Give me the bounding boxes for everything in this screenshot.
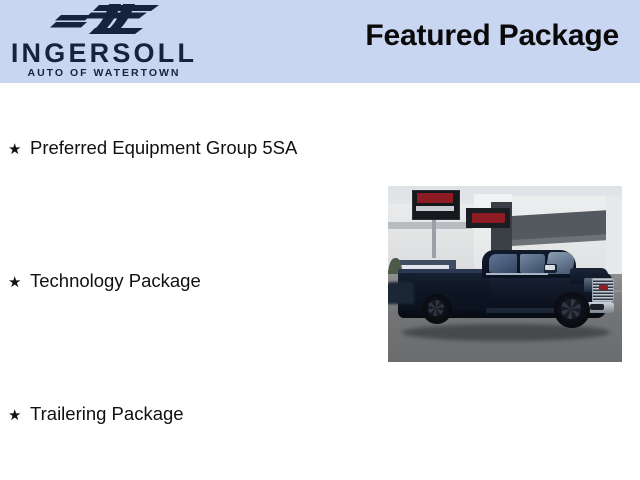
truck-front-window: [520, 254, 545, 273]
truck-gmc-badge-icon: [599, 285, 608, 290]
truck-rear-rim: [428, 300, 444, 316]
feature-label: Trailering Package: [30, 405, 184, 424]
truck-chrome-window-trim: [486, 273, 548, 275]
photo-pylon-gmc-logo-icon: [417, 193, 453, 203]
dealer-tagline: AUTO OF WATERTOWN: [8, 68, 200, 79]
list-item: ★ Trailering Package: [8, 405, 184, 424]
list-item: ★ Technology Package: [8, 272, 201, 291]
photo-pylon-dealer-name: [416, 206, 454, 211]
truck-bed-rail: [398, 269, 492, 273]
truck-chrome-grille: [592, 278, 614, 302]
photo-canopy: [388, 222, 472, 229]
star-bullet-icon: ★: [8, 408, 30, 423]
truck-rear-window: [489, 254, 517, 273]
page-title: Featured Package: [365, 19, 619, 53]
truck-side-mirror-glass: [545, 265, 555, 270]
photo-building-gmc-logo-icon: [472, 213, 505, 223]
list-item: ★ Preferred Equipment Group 5SA: [8, 139, 297, 158]
page-header: INGERSOLL AUTO OF WATERTOWN Featured Pac…: [0, 0, 640, 83]
dealer-logo: INGERSOLL AUTO OF WATERTOWN: [0, 0, 205, 83]
star-bullet-icon: ★: [8, 142, 30, 157]
photo-foreground-vehicle: [388, 282, 414, 304]
truck-running-board: [486, 308, 564, 313]
photo-truck: [394, 240, 618, 338]
feature-label: Preferred Equipment Group 5SA: [30, 139, 297, 158]
vehicle-photo: [388, 186, 622, 362]
feature-list: ★ Preferred Equipment Group 5SA ★ Techno…: [0, 83, 390, 480]
feature-label: Technology Package: [30, 272, 201, 291]
ingersoll-wing-emblem-icon: [47, 3, 167, 37]
dealer-name: INGERSOLL: [8, 40, 200, 67]
truck-front-rim: [561, 299, 581, 319]
truck-bumper-insert: [590, 304, 604, 310]
star-bullet-icon: ★: [8, 275, 30, 290]
